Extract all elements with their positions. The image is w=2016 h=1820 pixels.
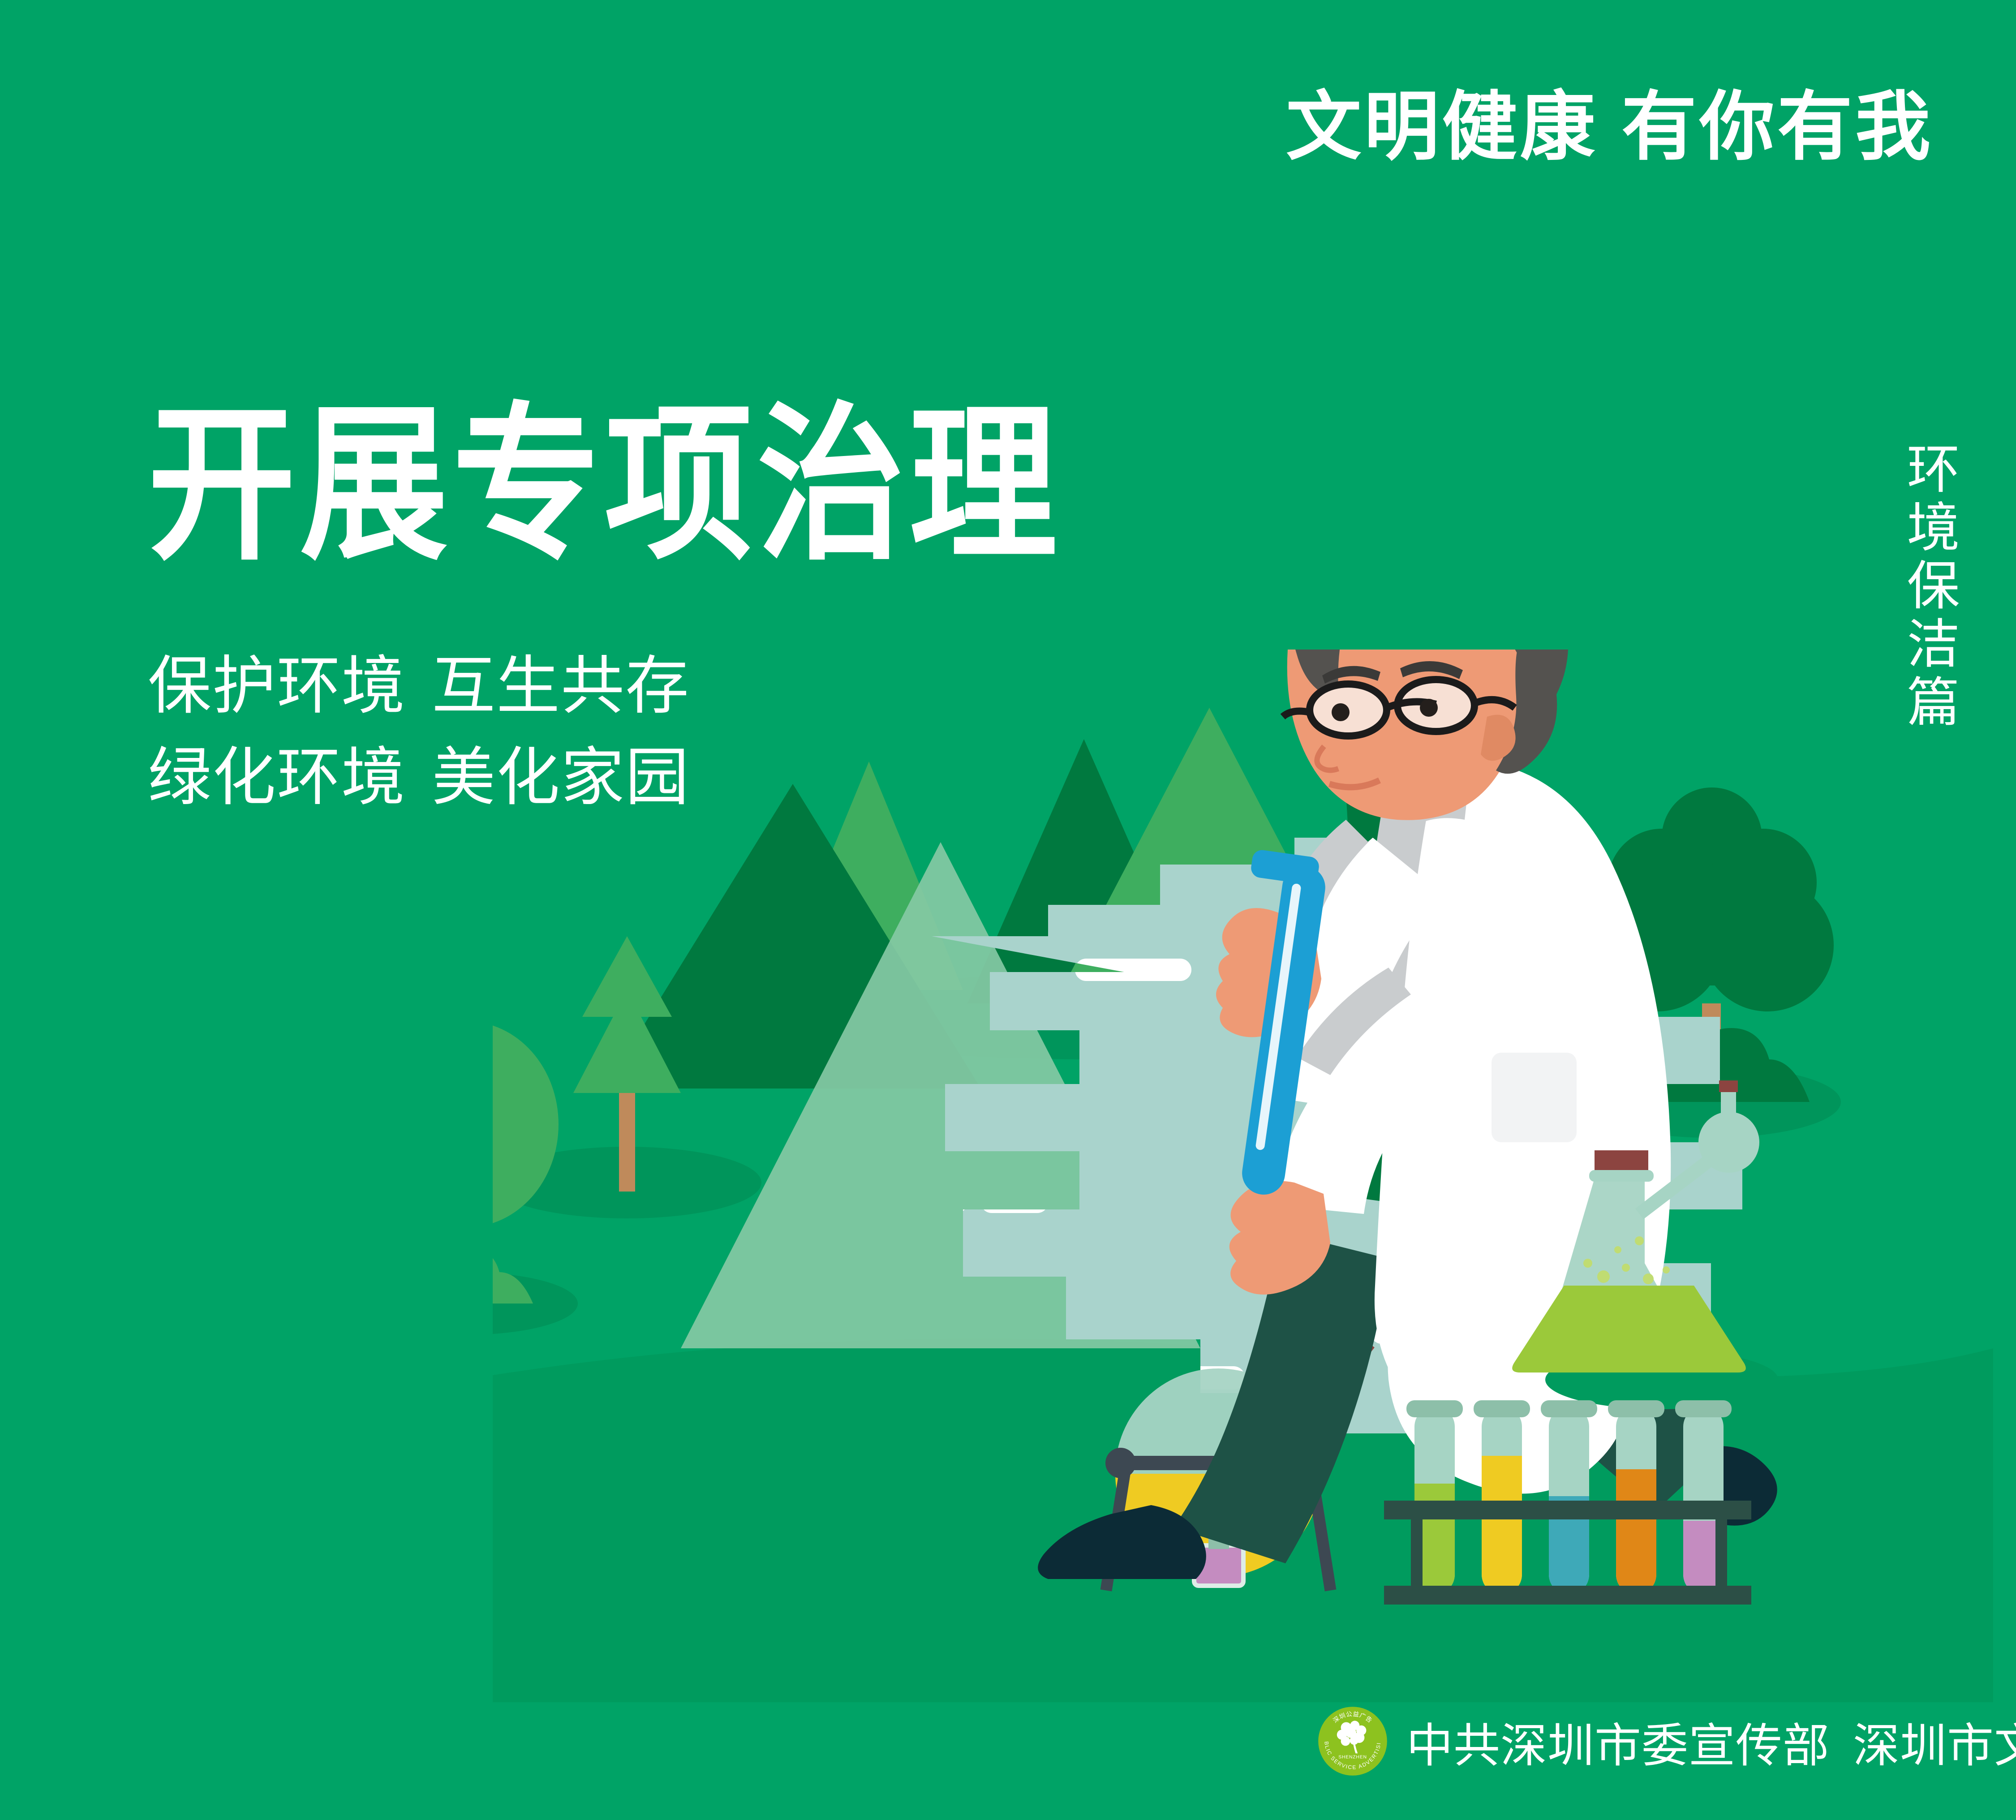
test-tube [1608, 1400, 1664, 1595]
svg-text:SHENZHEN: SHENZHEN [1338, 1755, 1367, 1760]
poster-canvas: 文明健康 有你有我 开展专项治理 保护环境互生共存 绿化环境美化家园 环境保洁篇 [0, 0, 2016, 1820]
subtitle-line-1-left: 保护环境 [148, 650, 406, 722]
footer-org-2: 深圳市文明办 [1853, 1720, 2016, 1772]
test-tube [1541, 1400, 1597, 1595]
shenzhen-public-service-advertising-logo: 深圳公益广告 PUBLIC SERVICE ADVERTISING SHEN [1317, 1705, 1388, 1777]
footer-organizations: 中共深圳市委宣传部深圳市文明办 [1406, 1708, 2016, 1775]
subtitle-line-2-left: 绿化环境 [148, 742, 406, 813]
lab-coat-pocket [1492, 1053, 1577, 1142]
footer: 深圳公益广告 PUBLIC SERVICE ADVERTISING SHEN [1317, 1705, 2016, 1777]
footer-org-1: 中共深圳市委宣传部 [1406, 1720, 1830, 1772]
page-title: 开展专项治理 [148, 394, 1062, 576]
illustration-scene [493, 650, 1993, 1702]
header-slogan: 文明健康 有你有我 [1286, 87, 1933, 166]
test-tube [1474, 1400, 1530, 1595]
